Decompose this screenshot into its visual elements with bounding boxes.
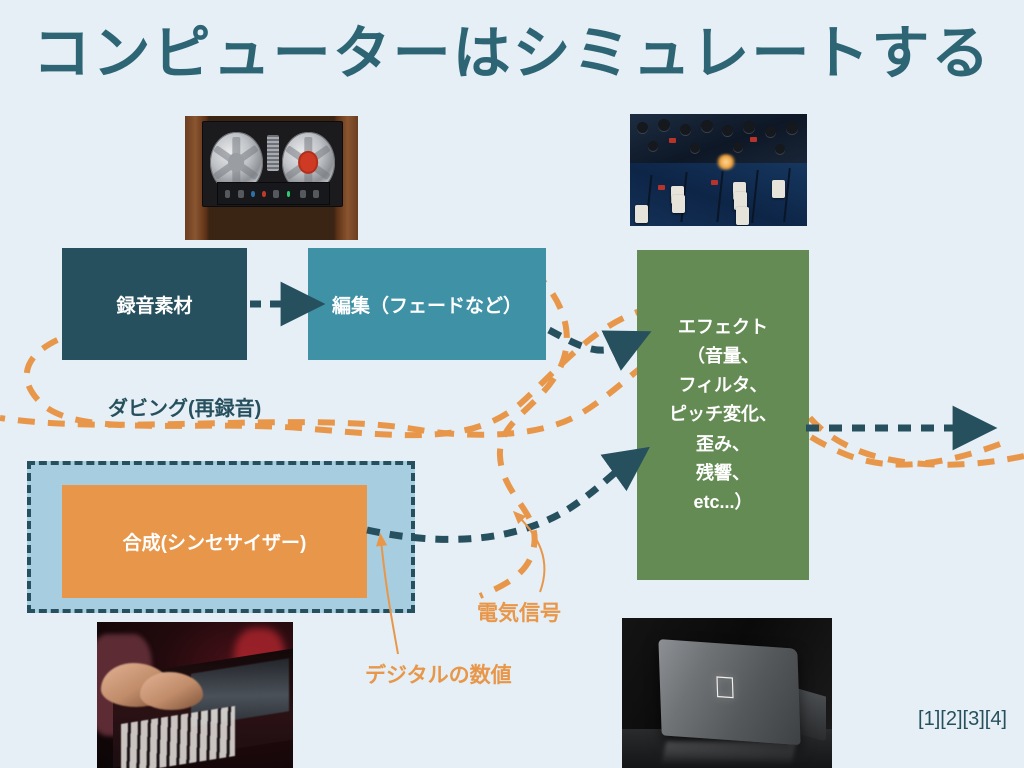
tape-indicator-green xyxy=(287,191,291,196)
tape-knob xyxy=(300,190,306,197)
box-synthesis[interactable]: 合成(シンセサイザー) xyxy=(62,485,367,598)
arrow-edit-to-effects xyxy=(549,330,625,350)
label-dubbing: ダビング(再録音) xyxy=(108,392,261,421)
fader-cap xyxy=(635,205,648,223)
label-digital-values: デジタルの数値 xyxy=(365,659,512,689)
mixer-knob xyxy=(701,120,713,132)
tape-control-panel xyxy=(217,182,330,204)
box-editing-label: 編集（フェードなど） xyxy=(332,291,522,318)
citation-references: [1][2][3][4] xyxy=(918,708,1007,731)
box-editing[interactable]: 編集（フェードなど） xyxy=(308,248,546,360)
mixer-knob xyxy=(775,144,785,154)
tape-knob xyxy=(273,190,279,197)
mixer-knob xyxy=(743,121,755,133)
mixer-red-button xyxy=(669,138,676,143)
box-synthesis-label: 合成(シンセサイザー) xyxy=(123,528,307,555)
mixer-knob xyxy=(658,119,670,131)
mixer-knob xyxy=(786,122,798,134)
mixer-fader-area xyxy=(630,163,807,226)
mixer-knob xyxy=(648,141,658,151)
box-effects-line: エフェクト xyxy=(669,313,777,342)
box-effects-text: エフェクト （音量、 フィルタ、 ピッチ変化、 歪み、 残響、 etc...） xyxy=(663,313,783,517)
apple-logo-icon:  xyxy=(713,672,737,704)
box-effects-line: etc...） xyxy=(669,488,777,517)
tape-knob xyxy=(238,190,244,197)
reel-hub xyxy=(229,153,245,171)
fader-cap xyxy=(736,207,749,225)
mixer-knob xyxy=(680,124,691,135)
box-effects-line: ピッチ変化、 xyxy=(669,400,777,429)
tape-knob xyxy=(225,190,231,197)
label-electric-signal: 電気信号 xyxy=(477,597,561,627)
leader-electric-signal xyxy=(518,516,544,592)
box-effects-line: フィルタ、 xyxy=(669,371,777,400)
tape-head-assembly xyxy=(267,135,279,170)
fader-track xyxy=(751,170,758,223)
mixer-knob xyxy=(637,122,648,133)
tape-knob xyxy=(313,190,319,197)
fader-track xyxy=(716,171,723,222)
box-recorded-material-label: 録音素材 xyxy=(116,291,192,318)
laptop-image:  xyxy=(622,618,832,768)
box-effects-line: 歪み、 xyxy=(669,430,777,459)
mixer-knob xyxy=(690,143,700,153)
reel-hub-red xyxy=(301,153,317,171)
fader-cap xyxy=(772,180,785,198)
box-effects[interactable]: エフェクト （音量、 フィルタ、 ピッチ変化、 歪み、 残響、 etc...） xyxy=(637,250,809,580)
box-effects-line: 残響、 xyxy=(669,459,777,488)
box-effects-line: （音量、 xyxy=(669,342,777,371)
tape-indicator-blue xyxy=(251,191,255,196)
laptop-reflection xyxy=(661,741,796,765)
tape-recorder-image xyxy=(185,116,358,240)
mixer-red-button xyxy=(658,185,665,190)
box-recorded-material[interactable]: 録音素材 xyxy=(62,248,247,360)
mixer-knob xyxy=(765,126,776,137)
page-title: コンピューターはシミュレートする xyxy=(0,22,1024,86)
laptop-lid:  xyxy=(658,638,800,744)
tape-indicator-red xyxy=(262,191,266,196)
slide-canvas: コンピューターはシミュレートする xyxy=(0,0,1024,768)
mixer-knob xyxy=(722,125,733,136)
mixing-console-image xyxy=(630,114,807,226)
synthesizer-keyboard-image xyxy=(97,622,293,768)
mixer-red-button xyxy=(711,180,718,185)
fader-cap xyxy=(672,195,685,213)
mixer-knob xyxy=(733,142,743,152)
mixer-red-button xyxy=(750,137,757,142)
tape-deck-face xyxy=(202,121,342,207)
